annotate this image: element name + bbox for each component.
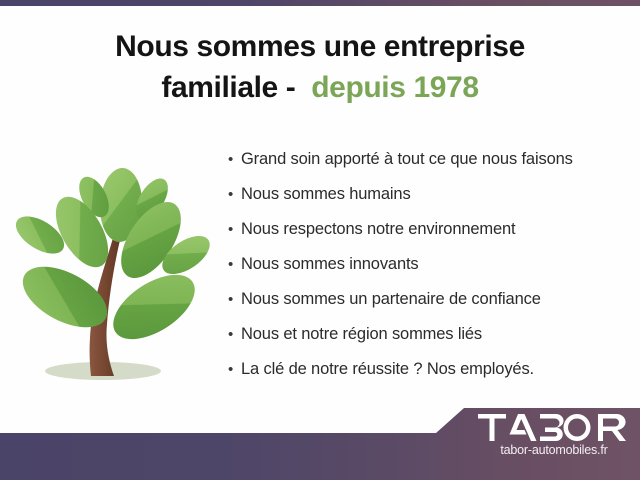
bullet-icon: •	[228, 152, 241, 167]
brand-logo[interactable]: tabor-automobiles.fr	[478, 414, 630, 457]
list-item: • Nous sommes un partenaire de confiance	[228, 290, 628, 325]
logo-tagline: tabor-automobiles.fr	[478, 443, 630, 457]
headline-accent: depuis 1978	[311, 71, 478, 104]
leaf-9	[102, 262, 205, 352]
headline-line-2: familiale - depuis 1978	[30, 67, 610, 108]
list-item-label: Nous et notre région sommes liés	[241, 325, 482, 344]
list-item-label: Nous sommes innovants	[241, 255, 419, 274]
list-item: • Nous sommes innovants	[228, 255, 628, 290]
list-item-label: La clé de notre réussite ? Nos employés.	[241, 360, 534, 379]
list-item: • Nous respectons notre environnement	[228, 220, 628, 255]
bullet-icon: •	[228, 187, 241, 202]
benefits-list: • Grand soin apporté à tout ce que nous …	[228, 150, 628, 395]
tabor-wordmark-icon	[478, 414, 626, 441]
bullet-icon: •	[228, 222, 241, 237]
list-item: • Grand soin apporté à tout ce que nous …	[228, 150, 628, 185]
page-title: Nous sommes une entreprise familiale - d…	[30, 26, 610, 109]
headline-prefix: familiale	[161, 71, 277, 104]
slide-canvas: Nous sommes une entreprise familiale - d…	[0, 0, 640, 480]
headline-line-1: Nous sommes une entreprise	[30, 26, 610, 67]
bullet-icon: •	[228, 362, 241, 377]
bullet-icon: •	[228, 292, 241, 307]
list-item: • Nous sommes humains	[228, 185, 628, 220]
bullet-icon: •	[228, 327, 241, 342]
list-item-label: Nous sommes humains	[241, 185, 411, 204]
top-accent-bar	[0, 0, 640, 6]
list-item: • Nous et notre région sommes liés	[228, 325, 628, 360]
headline-dash: -	[278, 71, 311, 104]
bullet-icon: •	[228, 257, 241, 272]
list-item-label: Nous respectons notre environnement	[241, 220, 516, 239]
list-item: • La clé de notre réussite ? Nos employé…	[228, 360, 628, 395]
footer-band: tabor-automobiles.fr	[0, 400, 640, 480]
list-item-label: Grand soin apporté à tout ce que nous fa…	[241, 150, 573, 169]
list-item-label: Nous sommes un partenaire de confiance	[241, 290, 541, 309]
tree-illustration	[8, 152, 218, 392]
